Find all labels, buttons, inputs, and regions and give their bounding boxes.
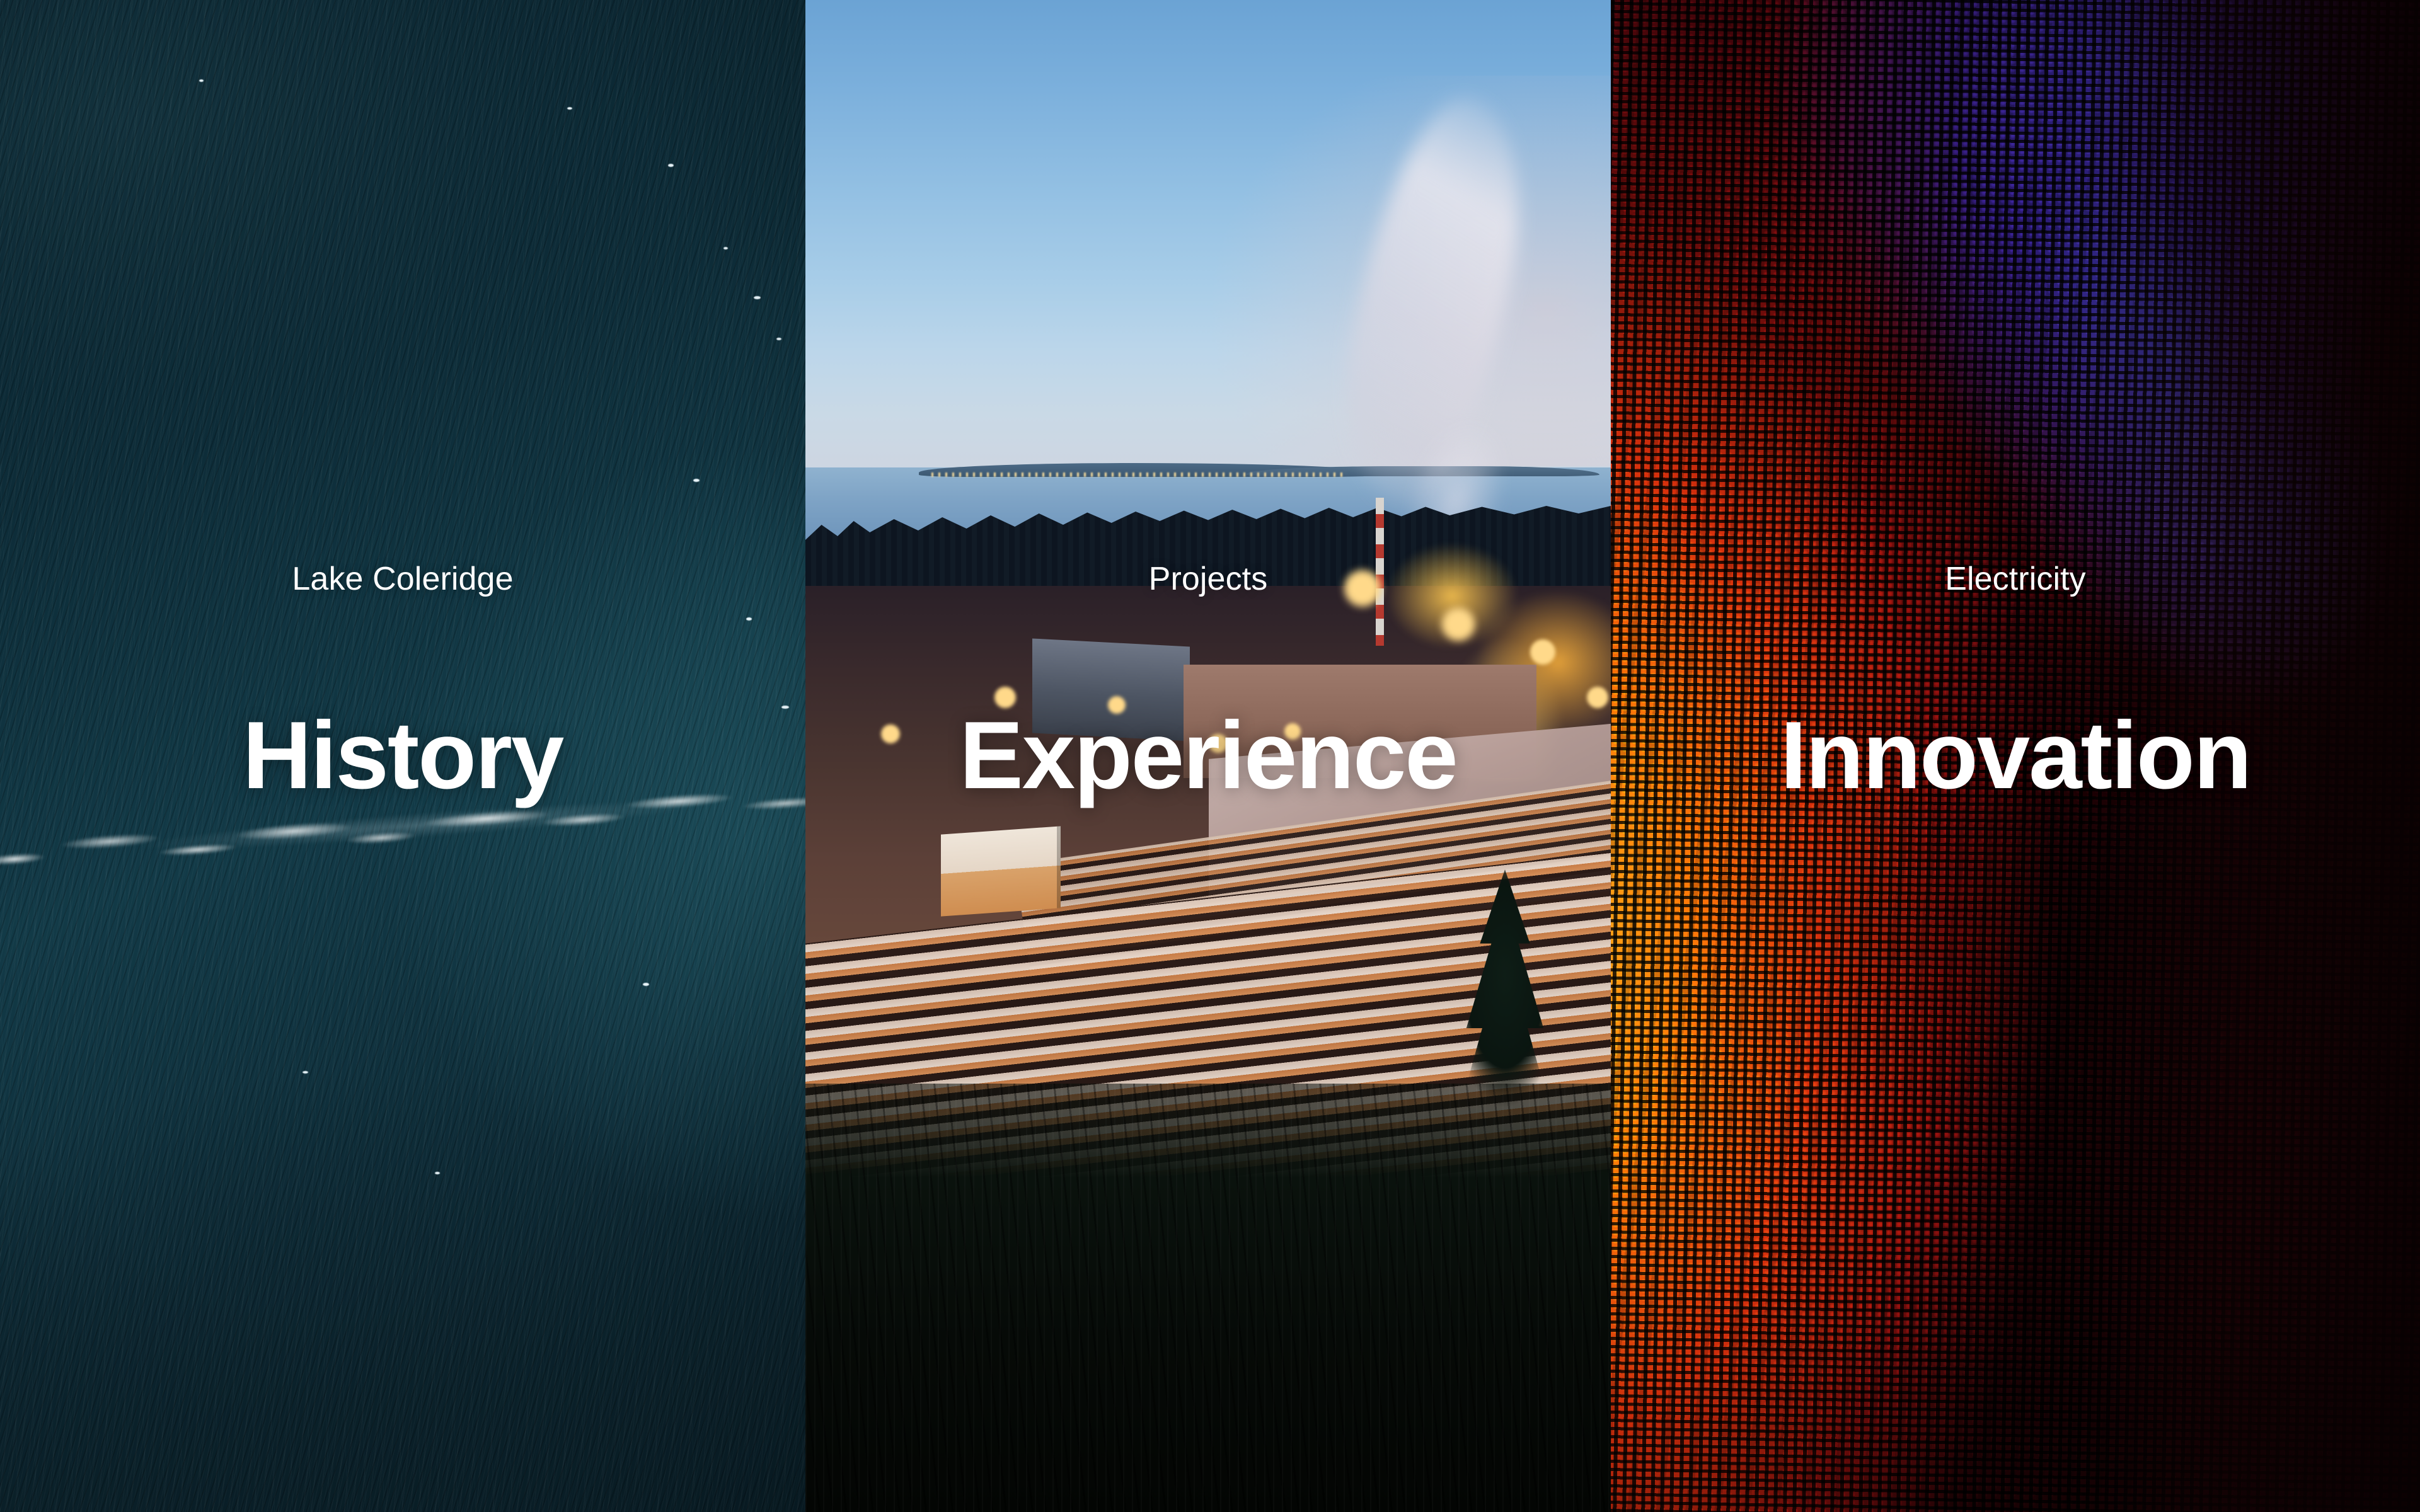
- smokestack: [1376, 498, 1384, 646]
- ocean-vignette: [0, 0, 805, 1512]
- mill-light: [994, 687, 1016, 708]
- panel-innovation[interactable]: Electricity Innovation: [1611, 0, 2420, 1512]
- mill-light: [1284, 723, 1301, 740]
- mill-light: [1587, 687, 1608, 708]
- panel-experience[interactable]: Projects Experience: [805, 0, 1611, 1512]
- led-vignette: [1611, 0, 2420, 1512]
- led-matrix-image: [1611, 0, 2420, 1512]
- mill-image: [805, 0, 1611, 1512]
- mill-shed: [1032, 638, 1190, 741]
- panel-history[interactable]: Lake Coleridge History: [0, 0, 805, 1512]
- mill-light: [1108, 696, 1126, 714]
- distant-town-lights: [931, 472, 1347, 477]
- mill-light: [881, 724, 900, 743]
- foreground-foliage-texture: [805, 1084, 1611, 1512]
- mill-light: [1209, 734, 1228, 753]
- three-panel-hero: Lake Coleridge History: [0, 0, 2420, 1512]
- mill-light: [1530, 639, 1555, 665]
- lumber-bundle-stack-2: [963, 797, 1051, 847]
- mill-light: [1442, 608, 1475, 641]
- ocean-image: [0, 0, 805, 1512]
- mill-light: [1344, 570, 1381, 607]
